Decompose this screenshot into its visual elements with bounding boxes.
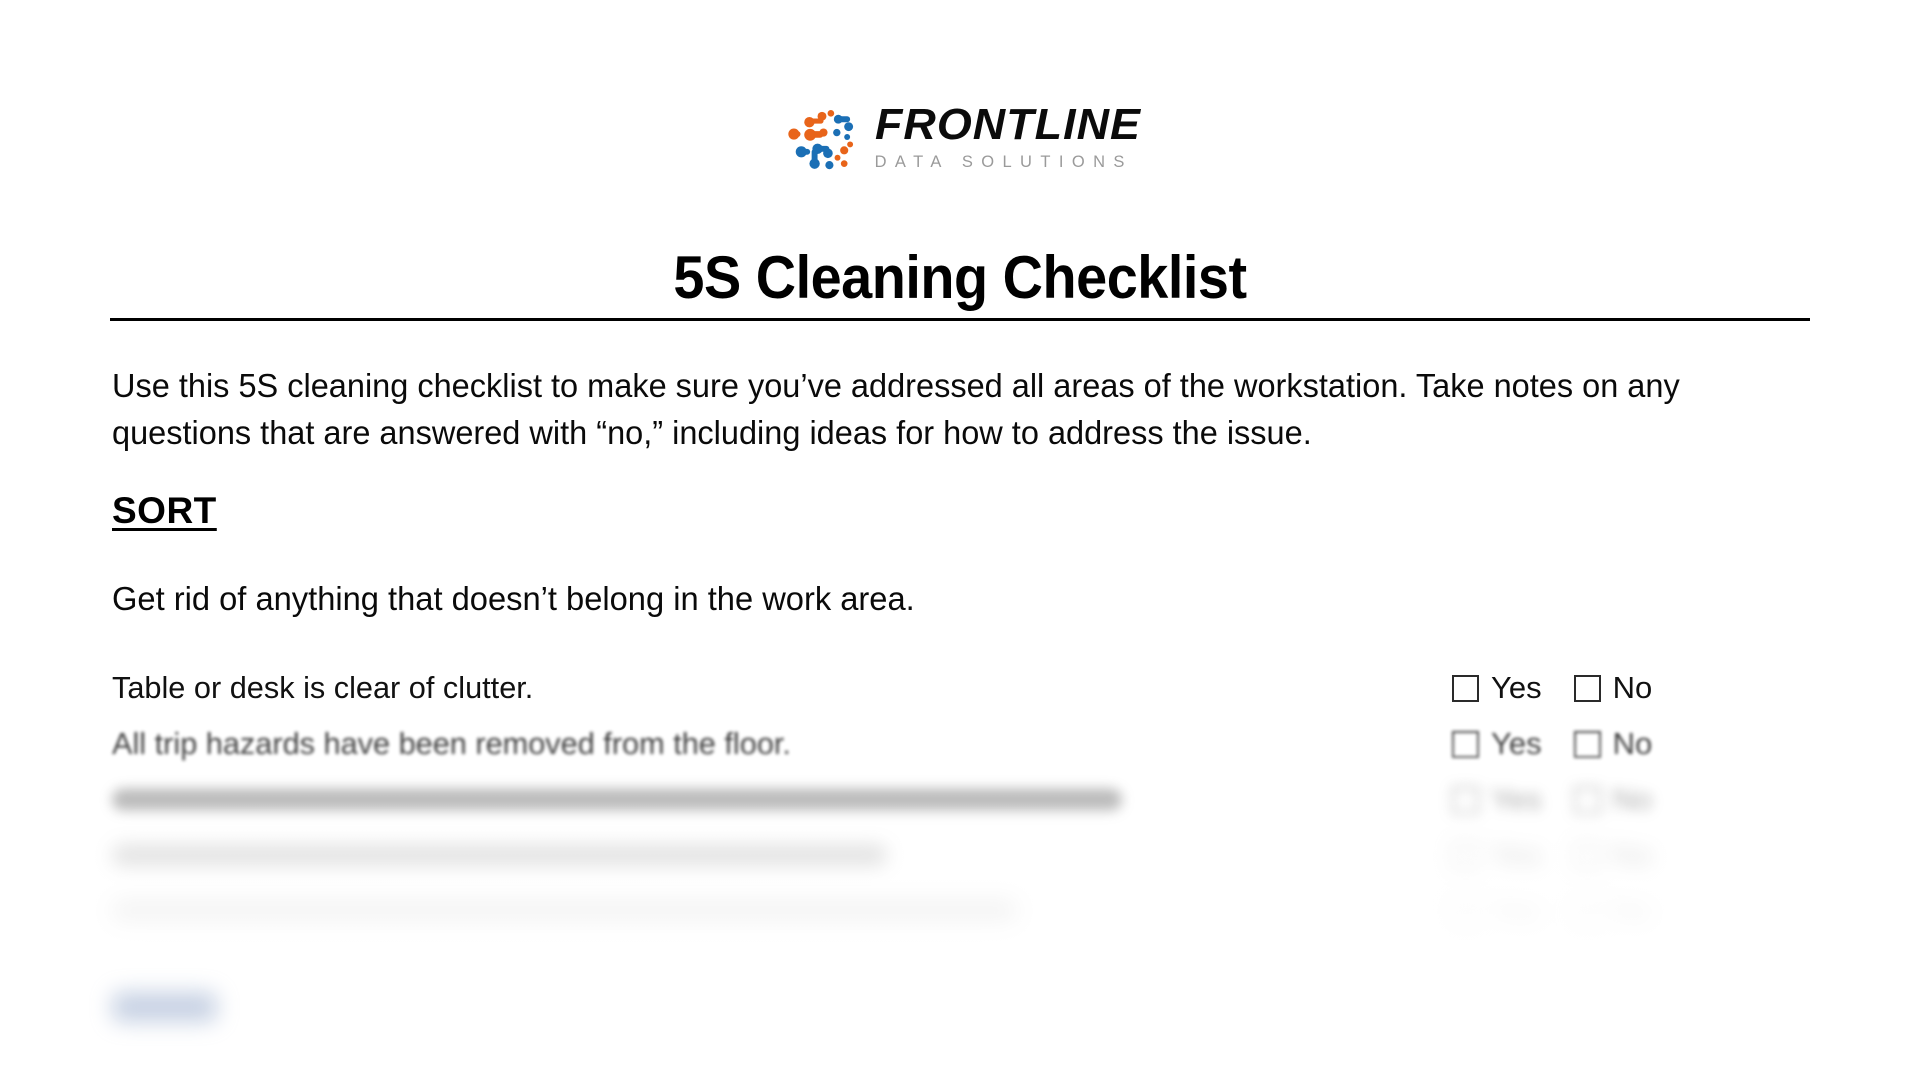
document-page: FRONTLINE DATA SOLUTIONS 5S Cleaning Che…	[0, 0, 1920, 1080]
checkbox-yes-label: Yes	[1491, 726, 1542, 762]
checkbox-no-label: No	[1613, 782, 1653, 818]
checklist-row-options: Yes No	[1452, 884, 1652, 940]
checkbox-yes-icon[interactable]	[1452, 899, 1479, 926]
intro-paragraph: Use this 5S cleaning checklist to make s…	[112, 362, 1787, 456]
checkbox-yes-icon[interactable]	[1452, 731, 1479, 758]
checkbox-option-yes[interactable]: Yes	[1452, 726, 1542, 762]
checkbox-option-yes[interactable]: Yes	[1452, 838, 1542, 874]
checkbox-no-icon[interactable]	[1574, 787, 1601, 814]
brand-logo: FRONTLINE DATA SOLUTIONS	[0, 100, 1920, 174]
page-title: 5S Cleaning Checklist	[67, 243, 1853, 312]
checklist-row-obscured: Yes No	[112, 772, 1812, 828]
title-divider	[110, 318, 1810, 321]
checklist-row: Table or desk is clear of clutter. Yes N…	[112, 660, 1812, 716]
logo-inner: FRONTLINE DATA SOLUTIONS	[785, 100, 1136, 174]
checklist-item-label: All trip hazards have been removed from …	[112, 726, 791, 762]
checkbox-option-yes[interactable]: Yes	[1452, 670, 1542, 706]
checklist-row-options: Yes No	[1452, 716, 1652, 772]
logo-tagline: DATA SOLUTIONS	[875, 154, 1136, 171]
checkbox-option-no[interactable]: No	[1574, 838, 1653, 874]
checklist-row-obscured: Yes No	[112, 828, 1812, 884]
checkbox-no-label: No	[1613, 670, 1653, 706]
checklist-row: All trip hazards have been removed from …	[112, 716, 1812, 772]
checklist-row-options: Yes No	[1452, 828, 1652, 884]
obscured-footer-element	[112, 992, 217, 1022]
checklist-row-options: Yes No	[1452, 772, 1652, 828]
section-description-sort: Get rid of anything that doesn’t belong …	[112, 580, 915, 618]
logo-brand-name: FRONTLINE	[875, 103, 1141, 147]
checkbox-option-yes[interactable]: Yes	[1452, 782, 1542, 818]
checkbox-yes-icon[interactable]	[1452, 675, 1479, 702]
checkbox-option-no[interactable]: No	[1574, 894, 1653, 930]
checkbox-no-label: No	[1613, 838, 1653, 874]
checklist-row-obscured: Yes No	[112, 884, 1812, 940]
checkbox-option-no[interactable]: No	[1574, 782, 1653, 818]
checklist-sort: Table or desk is clear of clutter. Yes N…	[112, 660, 1812, 940]
checkbox-no-icon[interactable]	[1574, 843, 1601, 870]
section-heading-sort: SORT	[112, 490, 217, 532]
checkbox-yes-label: Yes	[1491, 782, 1542, 818]
checkbox-no-icon[interactable]	[1574, 675, 1601, 702]
checkbox-no-icon[interactable]	[1574, 731, 1601, 758]
checkbox-option-yes[interactable]: Yes	[1452, 894, 1542, 930]
checkbox-no-icon[interactable]	[1574, 899, 1601, 926]
checkbox-no-label: No	[1613, 726, 1653, 762]
checkbox-option-no[interactable]: No	[1574, 670, 1653, 706]
checkbox-yes-label: Yes	[1491, 894, 1542, 930]
frontline-dot-cluster-logo-icon	[785, 100, 859, 174]
checklist-item-label: Table or desk is clear of clutter.	[112, 670, 533, 706]
checkbox-yes-icon[interactable]	[1452, 787, 1479, 814]
checkbox-yes-icon[interactable]	[1452, 843, 1479, 870]
checkbox-option-no[interactable]: No	[1574, 726, 1653, 762]
checkbox-no-label: No	[1613, 894, 1653, 930]
checkbox-yes-label: Yes	[1491, 670, 1542, 706]
checklist-row-options: Yes No	[1452, 660, 1652, 716]
checkbox-yes-label: Yes	[1491, 838, 1542, 874]
logo-wordmark: FRONTLINE DATA SOLUTIONS	[875, 103, 1136, 171]
